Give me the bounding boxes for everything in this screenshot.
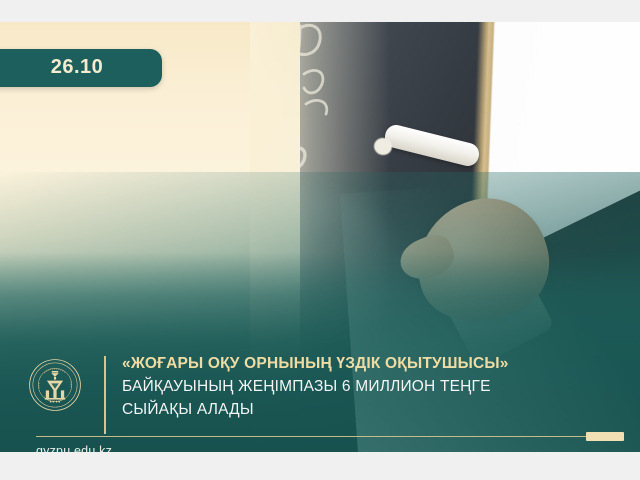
university-seal-emblem <box>28 358 82 412</box>
date-badge: 26.10 <box>0 49 162 87</box>
footer-accent-bar <box>586 432 624 441</box>
headline-accent-rule <box>104 356 106 434</box>
headline-line-1: «ЖОҒАРЫ ОҚУ ОРНЫНЫҢ ҮЗДІК ОҚЫТУШЫСЫ» <box>122 352 638 375</box>
footer-divider <box>36 436 602 437</box>
headline-line-3: СЫЙАҚЫ АЛАДЫ <box>122 398 638 421</box>
site-url[interactable]: qyzpu.edu.kz <box>36 444 112 452</box>
headline-line-2: БАЙҚАУЫНЫҢ ЖЕҢІМПАЗЫ 6 МИЛЛИОН ТЕҢГЕ <box>122 375 638 398</box>
promo-banner: 26.10 <box>0 22 640 452</box>
screenshot-canvas: 26.10 <box>0 0 640 480</box>
headline-block: «ЖОҒАРЫ ОҚУ ОРНЫНЫҢ ҮЗДІК ОҚЫТУШЫСЫ» БАЙ… <box>104 352 638 421</box>
